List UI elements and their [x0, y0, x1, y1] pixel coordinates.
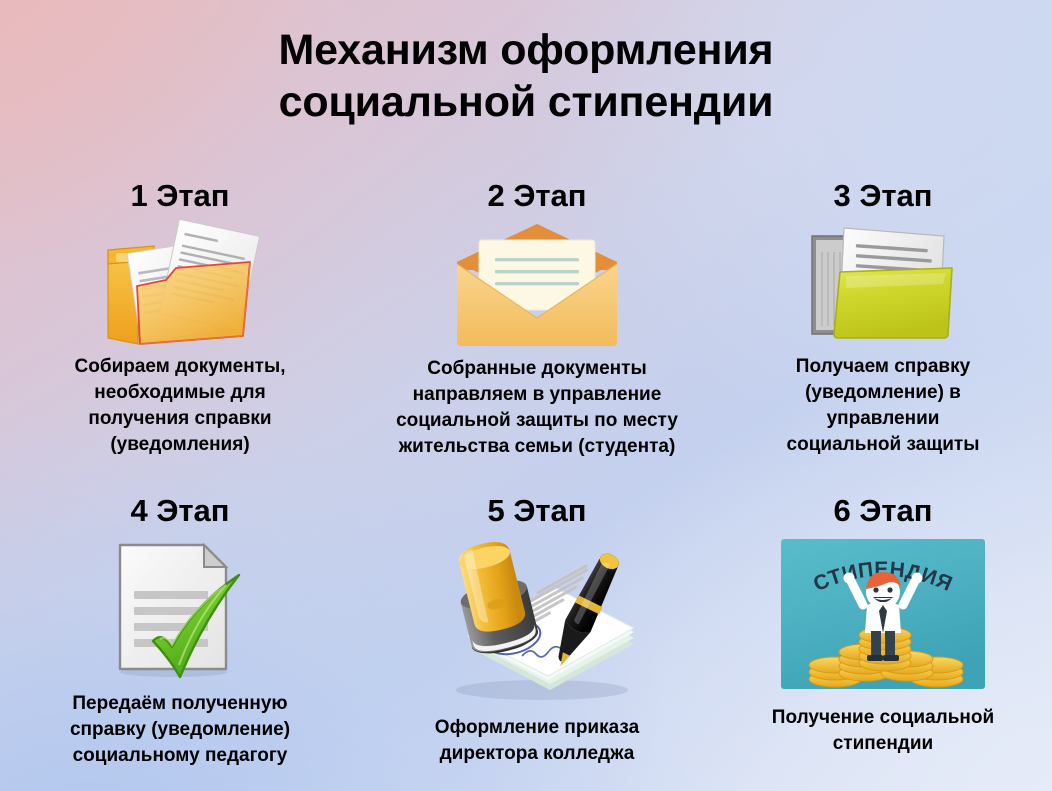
- stamp-pen-and-document-icon: ПРИКАЗ: [422, 533, 652, 703]
- step-card-3: 3 Этап: [714, 178, 1052, 493]
- open-envelope-with-letter-icon: [443, 222, 631, 350]
- step-3-caption: Получаем справку (уведомление) в управле…: [781, 354, 986, 458]
- step-card-4: 4 Этап: [0, 493, 360, 791]
- step-card-5: 5 Этап: [360, 493, 714, 791]
- step-4-caption: Передаём полученную справку (уведомление…: [64, 691, 296, 769]
- step-6-caption: Получение социальной стипендии: [766, 705, 1000, 757]
- steps-grid: 1 Этап: [0, 178, 1052, 791]
- step-6-title: 6 Этап: [833, 493, 932, 529]
- step-2-caption: Собранные документы направляем в управле…: [390, 356, 684, 460]
- folder-with-documents-icon: [80, 220, 280, 348]
- step-card-2: 2 Этап: [360, 178, 714, 493]
- step-3-title: 3 Этап: [833, 178, 932, 214]
- step-2-title: 2 Этап: [487, 178, 586, 214]
- document-with-green-checkmark-icon: [100, 535, 260, 685]
- green-folder-with-papers-icon: [790, 222, 976, 348]
- step-4-title: 4 Этап: [130, 493, 229, 529]
- poster-background: Механизм оформления социальной стипендии…: [0, 0, 1052, 791]
- step-1-title: 1 Этап: [130, 178, 229, 214]
- step-5-caption: Оформление приказа директора колледжа: [429, 715, 645, 767]
- step-card-1: 1 Этап: [0, 178, 360, 493]
- step-5-title: 5 Этап: [487, 493, 586, 529]
- page-title: Механизм оформления социальной стипендии: [0, 24, 1052, 128]
- step-card-6: 6 Этап: [714, 493, 1052, 791]
- happy-man-on-coins-card-icon: СТИПЕНДИЯ: [779, 537, 987, 693]
- step-1-caption: Собираем документы, необходимые для полу…: [69, 354, 292, 458]
